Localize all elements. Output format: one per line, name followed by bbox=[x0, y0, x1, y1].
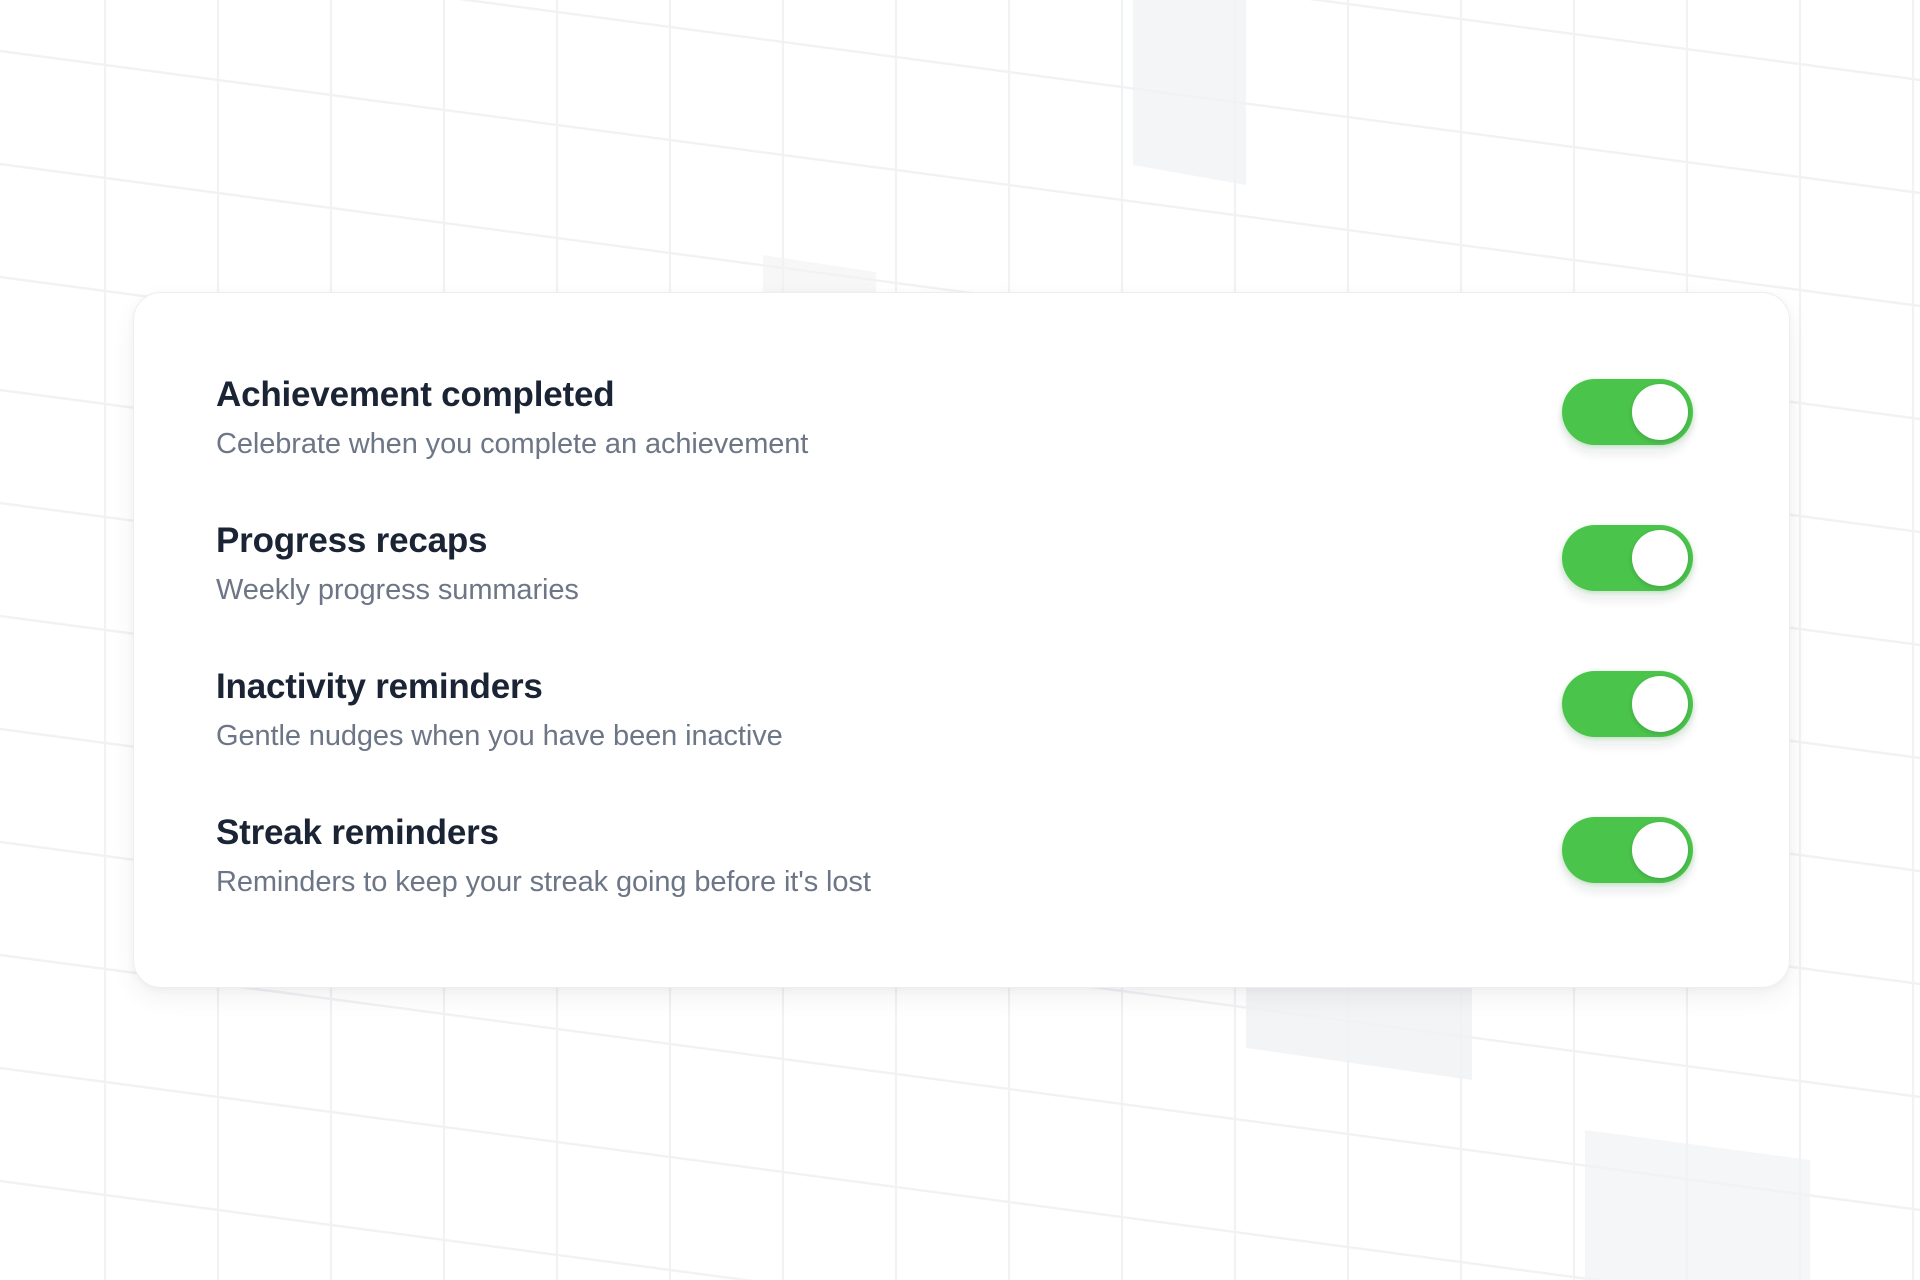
notification-settings-card: Achievement completed Celebrate when you… bbox=[133, 292, 1790, 988]
toggle-knob bbox=[1632, 530, 1688, 586]
toggle-track-on[interactable] bbox=[1562, 525, 1693, 591]
setting-title: Streak reminders bbox=[216, 812, 871, 853]
achievement-completed-toggle[interactable] bbox=[1553, 376, 1701, 460]
setting-text-block: Inactivity reminders Gentle nudges when … bbox=[216, 666, 783, 754]
streak-reminders-toggle[interactable] bbox=[1553, 814, 1701, 898]
toggle-knob bbox=[1632, 384, 1688, 440]
progress-recaps-toggle[interactable] bbox=[1553, 522, 1701, 606]
setting-description: Weekly progress summaries bbox=[216, 573, 579, 608]
toggle-knob bbox=[1632, 676, 1688, 732]
inactivity-reminders-toggle[interactable] bbox=[1553, 668, 1701, 752]
setting-description: Reminders to keep your streak going befo… bbox=[216, 865, 871, 900]
setting-title: Achievement completed bbox=[216, 374, 808, 415]
toggle-track-on[interactable] bbox=[1562, 379, 1693, 445]
toggle-track-on[interactable] bbox=[1562, 671, 1693, 737]
setting-row-achievement-completed: Achievement completed Celebrate when you… bbox=[216, 345, 1701, 491]
setting-description: Gentle nudges when you have been inactiv… bbox=[216, 719, 783, 754]
setting-text-block: Streak reminders Reminders to keep your … bbox=[216, 812, 871, 900]
setting-description: Celebrate when you complete an achieveme… bbox=[216, 427, 808, 462]
toggle-knob bbox=[1632, 822, 1688, 878]
setting-text-block: Progress recaps Weekly progress summarie… bbox=[216, 520, 579, 608]
toggle-track-on[interactable] bbox=[1562, 817, 1693, 883]
settings-list: Achievement completed Celebrate when you… bbox=[216, 345, 1701, 929]
setting-title: Progress recaps bbox=[216, 520, 579, 561]
setting-row-inactivity-reminders: Inactivity reminders Gentle nudges when … bbox=[216, 637, 1701, 783]
setting-row-progress-recaps: Progress recaps Weekly progress summarie… bbox=[216, 491, 1701, 637]
setting-text-block: Achievement completed Celebrate when you… bbox=[216, 374, 808, 462]
setting-row-streak-reminders: Streak reminders Reminders to keep your … bbox=[216, 783, 1701, 929]
setting-title: Inactivity reminders bbox=[216, 666, 783, 707]
